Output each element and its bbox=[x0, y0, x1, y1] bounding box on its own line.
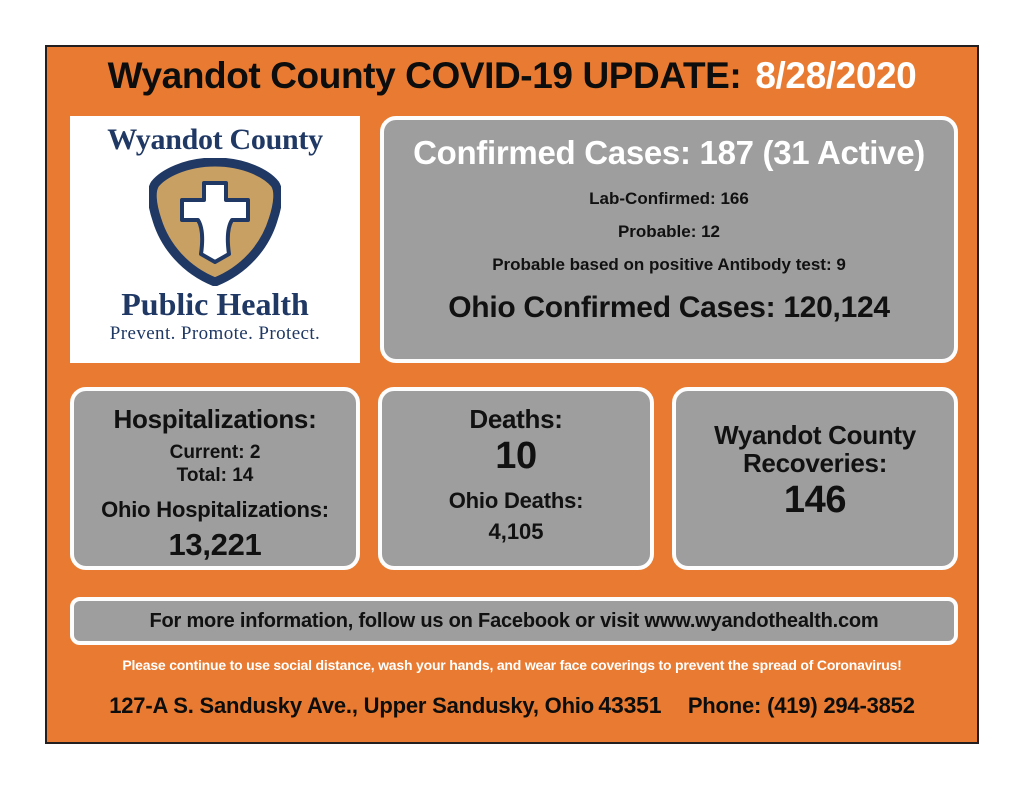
logo-top-text: Wyandot County bbox=[107, 124, 323, 156]
title-text: Wyandot County COVID-19 UPDATE: bbox=[108, 55, 742, 96]
ohio-confirmed-cases-line: Ohio Confirmed Cases: 120,124 bbox=[448, 291, 889, 325]
ohio-hospitalizations-label: Ohio Hospitalizations: bbox=[101, 497, 329, 523]
poster-panel: Wyandot County COVID-19 UPDATE:8/28/2020… bbox=[45, 45, 979, 744]
hospitalizations-card: Hospitalizations: Current: 2 Total: 14 O… bbox=[70, 387, 360, 570]
advisory-text: Please continue to use social distance, … bbox=[47, 657, 977, 673]
ohio-hospitalizations-value: 13,221 bbox=[168, 527, 261, 563]
probable-antibody-line: Probable based on positive Antibody test… bbox=[492, 255, 846, 275]
address-text: 127-A S. Sandusky Ave., Upper Sandusky, … bbox=[109, 693, 594, 718]
more-information-text: For more information, follow us on Faceb… bbox=[150, 610, 879, 633]
recoveries-heading-line2: Recoveries: bbox=[743, 449, 887, 477]
lab-confirmed-line: Lab-Confirmed: 166 bbox=[589, 189, 749, 209]
ohio-deaths-label: Ohio Deaths: bbox=[449, 488, 584, 514]
title-date: 8/28/2020 bbox=[755, 55, 916, 96]
probable-line: Probable: 12 bbox=[618, 222, 720, 242]
confirmed-cases-headline: Confirmed Cases: 187 (31 Active) bbox=[413, 134, 925, 172]
recoveries-value: 146 bbox=[784, 479, 846, 522]
logo-bottom-text: Public Health bbox=[121, 288, 309, 320]
confirmed-cases-card: Confirmed Cases: 187 (31 Active) Lab-Con… bbox=[380, 116, 958, 363]
recoveries-heading-line1: Wyandot County bbox=[714, 421, 916, 449]
hospitalizations-heading: Hospitalizations: bbox=[114, 405, 317, 433]
agency-logo: Wyandot County Public Health Prevent. Pr… bbox=[70, 116, 360, 363]
more-information-bar[interactable]: For more information, follow us on Faceb… bbox=[70, 597, 958, 645]
contact-line: 127-A S. Sandusky Ave., Upper Sandusky, … bbox=[47, 692, 977, 719]
deaths-heading: Deaths: bbox=[469, 405, 562, 433]
ohio-deaths-value: 4,105 bbox=[488, 519, 543, 545]
address-zip: 43351 bbox=[598, 692, 661, 718]
deaths-card: Deaths: 10 Ohio Deaths: 4,105 bbox=[378, 387, 654, 570]
logo-tagline: Prevent. Promote. Protect. bbox=[110, 323, 320, 345]
deaths-value: 10 bbox=[495, 435, 536, 478]
recoveries-card: Wyandot County Recoveries: 146 bbox=[672, 387, 958, 570]
hospitalizations-total: Total: 14 bbox=[177, 464, 254, 487]
shield-cross-icon bbox=[149, 158, 281, 286]
page-title: Wyandot County COVID-19 UPDATE:8/28/2020 bbox=[47, 55, 977, 97]
phone-text: Phone: (419) 294-3852 bbox=[688, 693, 915, 718]
hospitalizations-current: Current: 2 bbox=[170, 441, 261, 464]
